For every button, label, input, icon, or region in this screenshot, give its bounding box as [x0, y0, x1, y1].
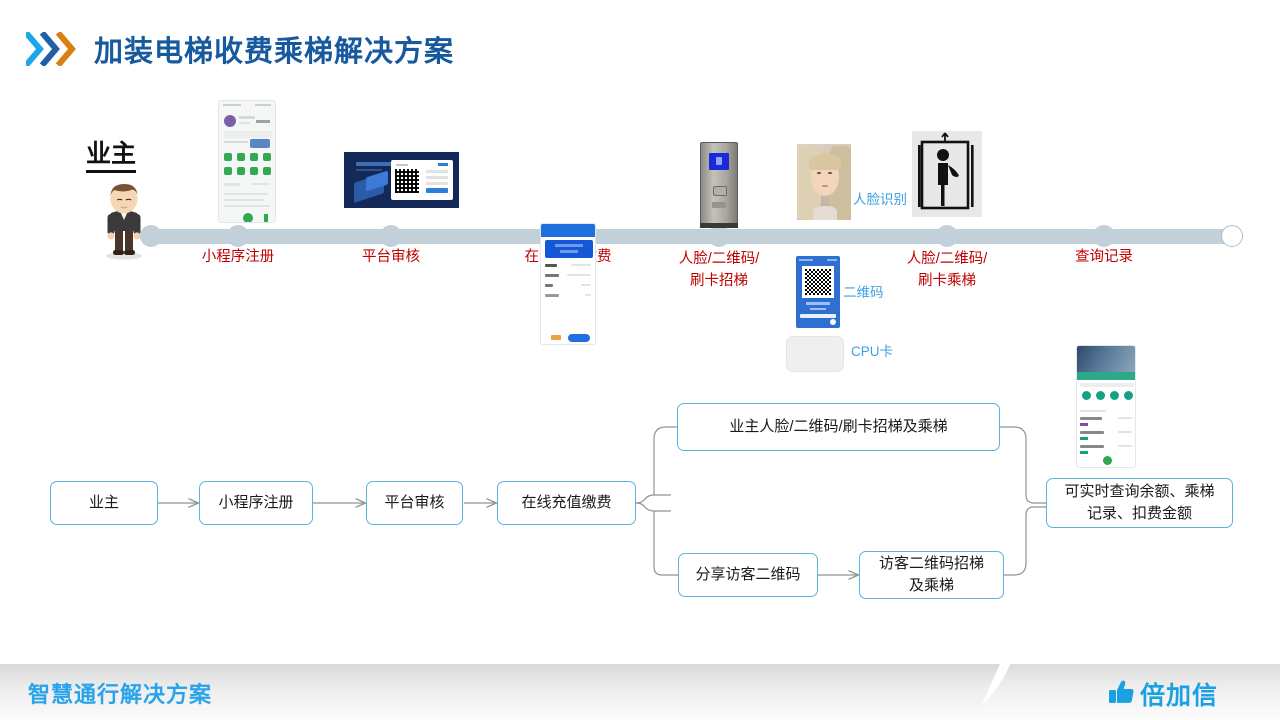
timeline-label-register: 小程序注册	[202, 246, 275, 268]
face-photo	[797, 144, 851, 220]
timeline-section: 业主 小程序注	[0, 0, 1280, 400]
footer-brand: 倍加信	[1108, 676, 1218, 712]
timeline-node-ride-elevator[interactable]	[936, 225, 958, 247]
timeline-actor-label: 业主	[86, 140, 136, 173]
platform-login-qr-screenshot	[344, 152, 459, 208]
timeline-label-review: 平台审核	[362, 246, 420, 268]
timeline-node-call-elevator[interactable]	[708, 225, 730, 247]
businessman-figure-icon	[96, 182, 152, 265]
records-app-screenshot	[1076, 345, 1136, 468]
timeline-node-start[interactable]	[140, 225, 162, 247]
footer-left-title: 智慧通行解决方案	[28, 677, 212, 709]
timeline-label-query: 查询记录	[1075, 246, 1133, 268]
footer-bar: 智慧通行解决方案 倍加信	[0, 664, 1280, 720]
timeline-label-ride-elevator: 人脸/二维码/ 刷卡乘梯	[907, 248, 988, 293]
qrcode-phone-screenshot	[796, 256, 840, 328]
footer-brand-name: 倍加信	[1140, 676, 1218, 712]
payment-app-screenshot	[540, 223, 596, 345]
flow-node-platform-audit[interactable]: 平台审核	[366, 481, 463, 525]
timeline-label-call-elevator: 人脸/二维码/ 刷卡招梯	[679, 248, 760, 293]
flow-node-share-qr[interactable]: 分享访客二维码	[678, 553, 818, 597]
flow-node-mini-register[interactable]: 小程序注册	[199, 481, 313, 525]
timeline-node-register[interactable]	[227, 225, 249, 247]
flow-node-owner[interactable]: 业主	[50, 481, 158, 525]
timeline-node-review[interactable]	[380, 225, 402, 247]
access-terminal-photo	[700, 142, 738, 228]
wechat-miniprogram-screenshot	[218, 100, 276, 223]
timeline-node-query[interactable]	[1093, 225, 1115, 247]
timeline-node-end[interactable]	[1221, 225, 1243, 247]
annotation-label-face-recognition: 人脸识别	[853, 188, 907, 208]
flow-node-visitor-access[interactable]: 访客二维码招梯 及乘梯	[859, 551, 1004, 599]
annotation-label-cpu-card: CPU卡	[851, 340, 893, 360]
thumbs-up-icon	[1108, 679, 1135, 710]
elevator-pictogram-icon	[912, 131, 982, 217]
white-card-image	[786, 336, 844, 372]
flow-node-realtime-query[interactable]: 可实时查询余额、乘梯 记录、扣费金额	[1046, 478, 1233, 528]
flow-node-owner-access[interactable]: 业主人脸/二维码/刷卡招梯及乘梯	[677, 403, 1000, 451]
flow-node-online-pay[interactable]: 在线充值缴费	[497, 481, 636, 525]
timeline-bar	[140, 229, 1232, 244]
annotation-label-qrcode: 二维码	[843, 281, 884, 301]
